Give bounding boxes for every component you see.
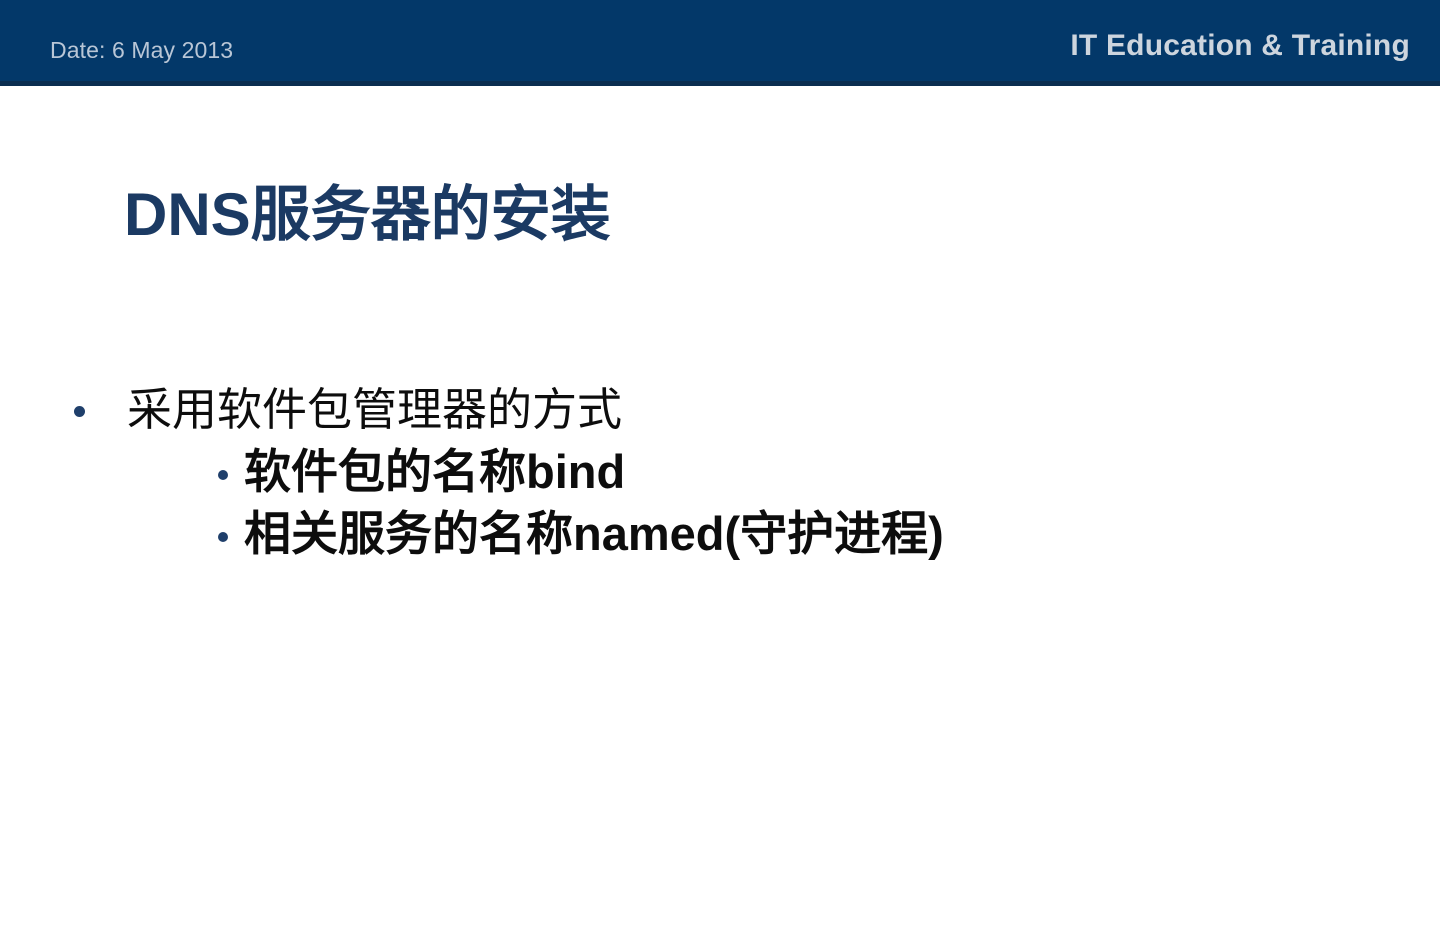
bullet-item-level1: 采用软件包管理器的方式 <box>0 383 1440 436</box>
slide-date-label: Date: 6 May 2013 <box>50 39 233 62</box>
bullet-item-level2: 相关服务的名称named(守护进程) <box>0 506 1440 562</box>
slide-body: 采用软件包管理器的方式 软件包的名称bind 相关服务的名称named(守护进程… <box>0 383 1440 569</box>
bullet-item-level2: 软件包的名称bind <box>0 444 1440 500</box>
slide-title: DNS服务器的安装 <box>124 182 611 248</box>
bullet-text: 软件包的名称bind <box>244 444 625 500</box>
bullet-text: 相关服务的名称named(守护进程) <box>244 506 944 562</box>
round-bullet-icon <box>218 470 228 480</box>
slide-brand-label: IT Education & Training <box>1070 31 1410 61</box>
round-bullet-icon <box>218 532 228 542</box>
slide-header-underline <box>0 81 1440 86</box>
presentation-slide: Date: 6 May 2013 IT Education & Training… <box>0 0 1440 925</box>
round-bullet-icon <box>74 406 85 417</box>
bullet-text: 采用软件包管理器的方式 <box>127 383 622 436</box>
